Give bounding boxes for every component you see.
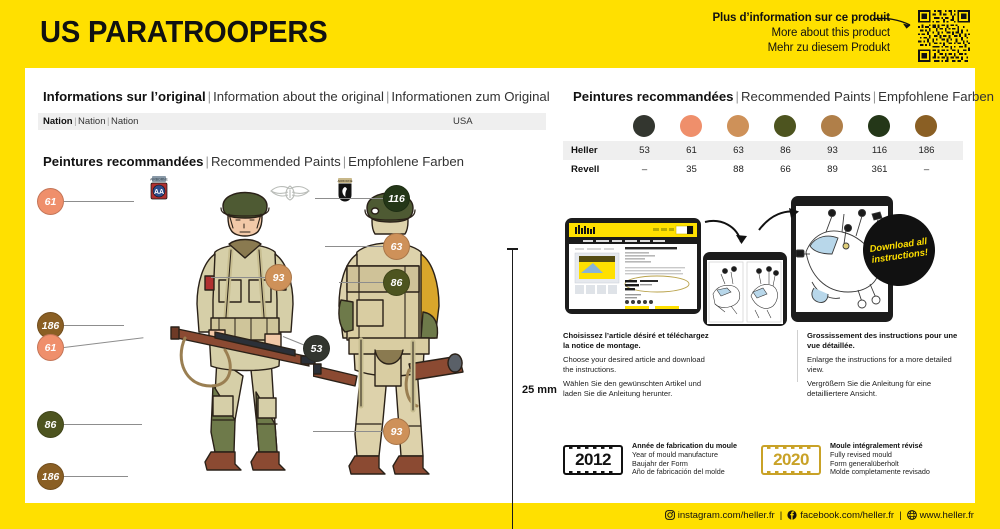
callout-186-boots[interactable]: 186 bbox=[37, 463, 64, 490]
table-cell: 35 bbox=[668, 164, 715, 175]
paints-heading-en: Recommended Paints bbox=[211, 154, 341, 169]
table-cell: 361 bbox=[856, 164, 903, 175]
paint-swatch-row bbox=[573, 113, 963, 139]
nation-label-fr: Nation bbox=[43, 116, 73, 127]
paint-swatch-53 bbox=[633, 115, 655, 137]
page-footer: instagram.com/heller.fr | facebook.com/h… bbox=[0, 504, 1000, 526]
howto-2-fr: Grossissement des instructions pour une … bbox=[807, 331, 965, 350]
device-screen bbox=[707, 260, 783, 324]
download-instructions-illustration: Download all instructions! bbox=[561, 186, 971, 326]
website-label: www.heller.fr bbox=[920, 510, 974, 521]
paints-heading-fr: Peintures recommandées bbox=[43, 154, 204, 169]
callout-leader-line bbox=[64, 325, 124, 326]
footer-separator: | bbox=[899, 510, 902, 521]
mould-0-en: Year of mould manufacture bbox=[632, 450, 718, 459]
paint-swatch-63 bbox=[727, 115, 749, 137]
howto-2-en: Enlarge the instructions for a more deta… bbox=[807, 355, 965, 374]
callout-93-trousers-back[interactable]: 93 bbox=[383, 418, 410, 445]
paint-swatch-61 bbox=[680, 115, 702, 137]
callout-86-trousers[interactable]: 86 bbox=[37, 411, 64, 438]
callout-86-elbow-pad[interactable]: 86 bbox=[383, 269, 410, 296]
paints-heading-de: Empfohlene Farben bbox=[348, 154, 464, 169]
nation-label-en: Nation bbox=[78, 116, 105, 127]
paints-heading-fr: Peintures recommandées bbox=[573, 89, 734, 104]
page-title: US PARATROOPERS bbox=[40, 16, 328, 47]
table-cell: 116 bbox=[856, 145, 903, 156]
qr-text-de: Mehr zu diesem Produkt bbox=[712, 41, 890, 56]
qr-code-icon[interactable] bbox=[918, 10, 970, 62]
footer-separator: | bbox=[780, 510, 783, 521]
recommended-paints-heading-left: Peintures recommandées|Recommended Paint… bbox=[43, 153, 464, 170]
heading-separator: | bbox=[206, 89, 213, 104]
paint-reference-table: Heller 53 61 63 86 93 116 186 Revell – 3… bbox=[563, 141, 963, 179]
mould-0-fr: Année de fabrication du moule bbox=[632, 441, 737, 450]
mould-year-2012-badge: 2012 bbox=[563, 445, 623, 475]
original-info-heading-de: Informationen zum Original bbox=[391, 89, 549, 104]
mould-year-value: 2020 bbox=[773, 450, 809, 470]
table-row: Heller 53 61 63 86 93 116 186 bbox=[563, 141, 963, 160]
mould-1-en: Fully revised mould bbox=[830, 450, 892, 459]
instagram-label: instagram.com/heller.fr bbox=[678, 510, 775, 521]
callout-leader-line bbox=[64, 201, 134, 202]
howto-1-de: Wählen Sie den gewünschten Artikel und l… bbox=[563, 379, 713, 398]
qr-info-block: Plus d’information sur ce produit More a… bbox=[630, 8, 978, 63]
mould-revised-caption: Moule intégralement révisé Fully revised… bbox=[830, 442, 930, 477]
right-column: Peintures recommandées|Recommended Paint… bbox=[555, 68, 975, 503]
table-cell: 89 bbox=[809, 164, 856, 175]
table-cell: 88 bbox=[715, 164, 762, 175]
mould-1-de: Form generalüberholt bbox=[830, 459, 899, 468]
flow-arrow-2-icon bbox=[757, 206, 801, 236]
device-screen bbox=[569, 223, 697, 309]
mould-0-de: Baujahr der Form bbox=[632, 459, 688, 468]
original-info-heading-en: Information about the original bbox=[213, 89, 384, 104]
device-website-mockup bbox=[565, 218, 701, 314]
paint-brand-revell: Revell bbox=[563, 164, 621, 175]
table-row: Nation|Nation|Nation USA bbox=[38, 113, 546, 130]
curved-arrow-icon bbox=[872, 16, 916, 32]
device-instructions-mockup bbox=[703, 252, 787, 326]
recommended-paints-heading-right: Peintures recommandées|Recommended Paint… bbox=[573, 88, 994, 105]
mould-info-row: 2012 Année de fabrication du moule Year … bbox=[563, 440, 963, 488]
paratrooper-front-figure bbox=[155, 180, 335, 480]
original-info-heading-fr: Informations sur l’original bbox=[43, 89, 206, 104]
scale-bar bbox=[512, 248, 513, 529]
mould-year-item: 2012 Année de fabrication du moule Year … bbox=[563, 442, 737, 477]
nation-label: Nation|Nation|Nation bbox=[43, 116, 138, 127]
table-cell: 66 bbox=[762, 164, 809, 175]
table-cell: – bbox=[621, 164, 668, 175]
qr-text-en: More about this product bbox=[712, 26, 890, 41]
table-cell: 186 bbox=[903, 145, 950, 156]
original-info-heading: Informations sur l’original|Information … bbox=[43, 88, 550, 105]
callout-leader-line bbox=[64, 424, 142, 425]
callout-116-helmet-back[interactable]: 116 bbox=[383, 185, 410, 212]
callout-leader-line bbox=[64, 476, 128, 477]
callout-leader-line bbox=[315, 198, 385, 199]
table-cell: 63 bbox=[715, 145, 762, 156]
callout-63-sleeve[interactable]: 63 bbox=[383, 233, 410, 260]
mould-year-caption: Année de fabrication du moule Year of mo… bbox=[632, 442, 737, 477]
heading-separator: | bbox=[734, 89, 741, 104]
paints-heading-en: Recommended Paints bbox=[741, 89, 871, 104]
callout-61-helmet[interactable]: 61 bbox=[37, 188, 64, 215]
mould-1-fr: Moule intégralement révisé bbox=[830, 441, 923, 450]
callout-leader-line bbox=[339, 282, 385, 283]
howto-step-1-text: Choisissez l’article désiré et télécharg… bbox=[563, 331, 713, 404]
scale-label: 25 mm bbox=[522, 384, 557, 396]
instagram-icon bbox=[665, 510, 675, 520]
callout-leader-line bbox=[313, 431, 385, 432]
paint-brand-heller: Heller bbox=[563, 145, 621, 156]
callout-93-jacket[interactable]: 93 bbox=[265, 264, 292, 291]
howto-1-fr: Choisissez l’article désiré et télécharg… bbox=[563, 331, 713, 350]
instruction-sheet-content bbox=[707, 260, 783, 324]
howto-step-2-text: Grossissement des instructions pour une … bbox=[807, 331, 965, 404]
howto-divider bbox=[797, 330, 798, 382]
callout-leader-line bbox=[325, 246, 385, 247]
table-cell: – bbox=[903, 164, 950, 175]
nation-value: USA bbox=[453, 116, 473, 127]
scale-bar-cap-top bbox=[507, 248, 518, 250]
qr-info-text: Plus d’information sur ce produit More a… bbox=[712, 11, 890, 56]
facebook-icon bbox=[787, 510, 797, 520]
mould-revised-item: 2020 Moule intégralement révisé Fully re… bbox=[761, 442, 930, 477]
mould-0-es: Año de fabricación del molde bbox=[632, 467, 725, 476]
flow-arrow-1-icon bbox=[703, 216, 751, 256]
mould-year-2020-badge: 2020 bbox=[761, 445, 821, 475]
nation-label-de: Nation bbox=[111, 116, 138, 127]
paint-swatch-186 bbox=[915, 115, 937, 137]
howto-2-de: Vergrößern Sie die Anleitung für eine de… bbox=[807, 379, 965, 398]
callout-leader-line bbox=[211, 277, 271, 278]
paints-heading-de: Empfohlene Farben bbox=[878, 89, 994, 104]
instagram-link[interactable]: instagram.com/heller.fr bbox=[665, 510, 775, 521]
facebook-label: facebook.com/heller.fr bbox=[800, 510, 894, 521]
left-column: Informations sur l’original|Information … bbox=[25, 68, 555, 503]
callout-53-rifle-barrel[interactable]: 53 bbox=[303, 335, 330, 362]
table-cell: 53 bbox=[621, 145, 668, 156]
table-row: Revell – 35 88 66 89 361 – bbox=[563, 160, 963, 179]
qr-text-fr: Plus d’information sur ce produit bbox=[712, 11, 890, 26]
content-panel: Informations sur l’original|Information … bbox=[25, 68, 975, 503]
website-link[interactable]: www.heller.fr bbox=[907, 510, 974, 521]
paint-swatch-116 bbox=[868, 115, 890, 137]
figure-illustration-area: AIRBORNE AA AIRBORNE bbox=[25, 176, 555, 503]
table-cell: 86 bbox=[762, 145, 809, 156]
callout-leader-line bbox=[64, 337, 144, 348]
paint-swatch-86 bbox=[774, 115, 796, 137]
table-cell: 93 bbox=[809, 145, 856, 156]
heading-separator: | bbox=[204, 154, 211, 169]
paint-swatch-93 bbox=[821, 115, 843, 137]
page-header: US PARATROOPERS Plus d’information sur c… bbox=[0, 0, 1000, 68]
website-screen-content bbox=[569, 223, 697, 309]
facebook-link[interactable]: facebook.com/heller.fr bbox=[787, 510, 894, 521]
mould-1-es: Molde completamente revisado bbox=[830, 467, 930, 476]
callout-61-hand[interactable]: 61 bbox=[37, 334, 64, 361]
globe-icon bbox=[907, 510, 917, 520]
table-cell: 61 bbox=[668, 145, 715, 156]
howto-1-en: Choose your desired article and download… bbox=[563, 355, 713, 374]
mould-year-value: 2012 bbox=[575, 450, 611, 470]
